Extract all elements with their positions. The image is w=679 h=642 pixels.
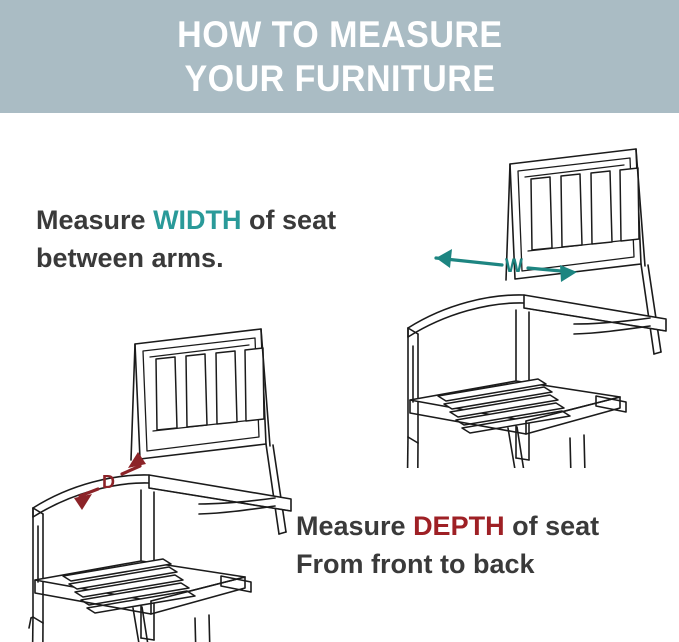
depth-instruction-line-1: Measure DEPTH of seat (296, 507, 599, 545)
depth-line1-prefix: Measure (296, 511, 413, 541)
depth-dimension-label: D (102, 472, 115, 492)
depth-instruction-text: Measure DEPTH of seat From front to back (296, 507, 599, 583)
page-title-line-1: HOW TO MEASURE (177, 13, 502, 57)
width-line1-suffix: of seat (242, 205, 337, 235)
width-line1-prefix: Measure (36, 205, 153, 235)
chair-width-illustration: W (398, 138, 679, 468)
depth-keyword: DEPTH (413, 511, 505, 541)
width-instruction-text: Measure WIDTH of seat between arms. (36, 201, 336, 277)
header-banner: HOW TO MEASURE YOUR FURNITURE (0, 0, 679, 113)
width-instruction-line-1: Measure WIDTH of seat (36, 201, 336, 239)
depth-line1-suffix: of seat (505, 511, 600, 541)
chair-depth-illustration: D (18, 318, 308, 642)
depth-instruction-line-2: From front to back (296, 545, 599, 583)
width-instruction-line-2: between arms. (36, 239, 336, 277)
page-title-line-2: YOUR FURNITURE (184, 57, 495, 101)
width-dimension-label: W (505, 256, 523, 277)
width-keyword: WIDTH (153, 205, 241, 235)
